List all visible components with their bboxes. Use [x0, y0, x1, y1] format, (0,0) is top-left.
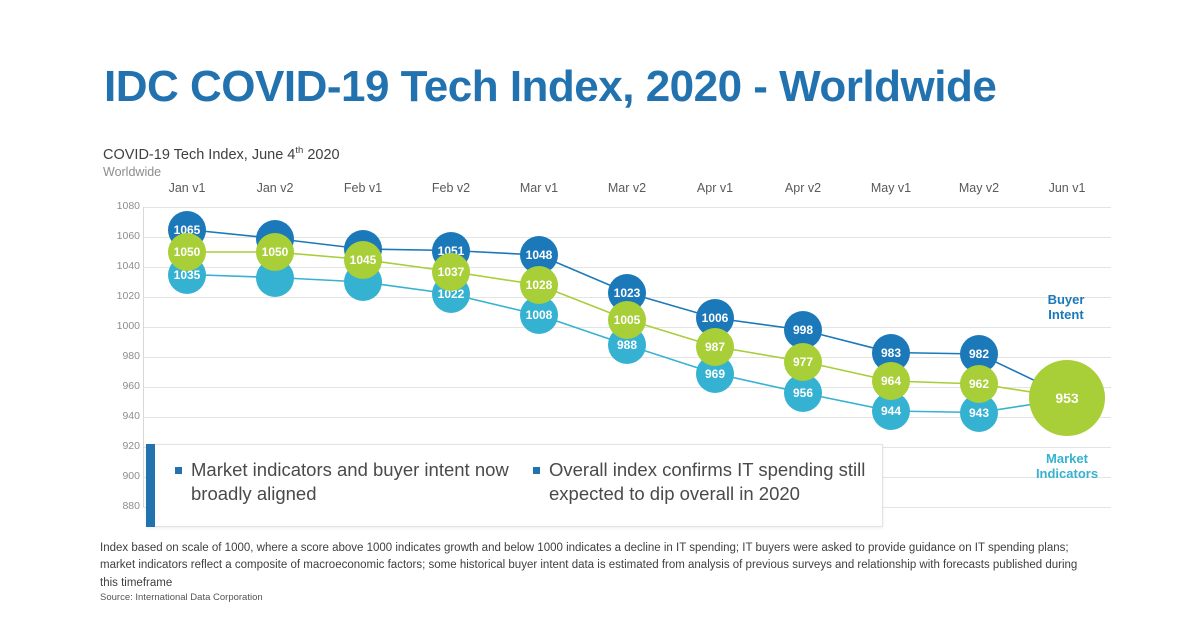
y-axis-tick-label: 1080 [100, 200, 140, 212]
series-end-label-buyer-line2: Intent [1048, 307, 1083, 322]
y-axis-tick-label: 1040 [100, 260, 140, 272]
y-axis-tick-label: 980 [100, 350, 140, 362]
callout-bullet-list: Market indicators and buyer intent now b… [175, 458, 875, 505]
data-bubble[interactable]: 1050 [256, 233, 294, 271]
x-axis-tick-label: Mar v1 [494, 181, 584, 195]
series-end-label-buyer-line1: Buyer [1048, 292, 1085, 307]
y-axis-tick-label: 1020 [100, 290, 140, 302]
chart-region-label: Worldwide [103, 165, 161, 179]
data-bubble[interactable]: 977 [784, 343, 822, 381]
series-end-label-buyer-intent: Buyer Intent [1024, 293, 1108, 323]
y-axis-tick-label: 1000 [100, 320, 140, 332]
footnote-text: Index based on scale of 1000, where a sc… [100, 540, 1085, 592]
y-axis-tick-label: 960 [100, 380, 140, 392]
x-axis-tick-label: Apr v2 [758, 181, 848, 195]
list-item: Overall index confirms IT spending still… [533, 458, 873, 505]
x-axis-tick-label: May v1 [846, 181, 936, 195]
x-axis-tick-label: Jun v1 [1022, 181, 1112, 195]
x-axis-tick-label: Mar v2 [582, 181, 672, 195]
x-axis-tick-label: Feb v1 [318, 181, 408, 195]
x-axis-tick-label: May v2 [934, 181, 1024, 195]
data-bubble[interactable]: 964 [872, 362, 910, 400]
page-title: IDC COVID-19 Tech Index, 2020 - Worldwid… [104, 62, 996, 112]
series-end-label-market-line2: Indicators [1036, 466, 1098, 481]
bullet-square-icon [175, 467, 182, 474]
bullet-square-icon [533, 467, 540, 474]
series-end-label-market-indicators: Market Indicators [1012, 452, 1122, 482]
chart-y-axis [143, 207, 144, 507]
series-end-label-total: TOTAL [1063, 383, 1105, 398]
data-bubble[interactable]: 987 [696, 328, 734, 366]
data-bubble[interactable]: 962 [960, 365, 998, 403]
list-item: Market indicators and buyer intent now b… [175, 458, 515, 505]
data-bubble[interactable]: 1005 [608, 301, 646, 339]
data-bubble[interactable]: 1050 [168, 233, 206, 271]
y-axis-tick-label: 940 [100, 410, 140, 422]
callout-accent-bar [146, 444, 155, 527]
data-bubble[interactable]: 1045 [344, 241, 382, 279]
x-axis-tick-label: Jan v2 [230, 181, 320, 195]
source-text: Source: International Data Corporation [100, 592, 263, 603]
chart-subtitle: COVID-19 Tech Index, June 4th 2020 [103, 145, 340, 163]
series-end-label-market-line1: Market [1046, 451, 1088, 466]
x-axis-tick-label: Jan v1 [142, 181, 232, 195]
chart-subtitle-prefix: COVID-19 Tech Index, June 4 [103, 147, 295, 163]
x-axis-tick-label: Feb v2 [406, 181, 496, 195]
y-axis-tick-label: 1060 [100, 230, 140, 242]
callout-bullet-text: Overall index confirms IT spending still… [549, 458, 873, 505]
y-axis-tick-label: 920 [100, 440, 140, 452]
chart-subtitle-suffix: 2020 [303, 147, 339, 163]
x-axis-tick-label: Apr v1 [670, 181, 760, 195]
gridline [143, 207, 1111, 208]
data-bubble[interactable]: 1028 [520, 266, 558, 304]
slide-page: IDC COVID-19 Tech Index, 2020 - Worldwid… [0, 0, 1200, 627]
y-axis-tick-label: 880 [100, 500, 140, 512]
data-bubble[interactable]: 1037 [432, 253, 470, 291]
y-axis-tick-label: 900 [100, 470, 140, 482]
callout-bullet-text: Market indicators and buyer intent now b… [191, 458, 515, 505]
